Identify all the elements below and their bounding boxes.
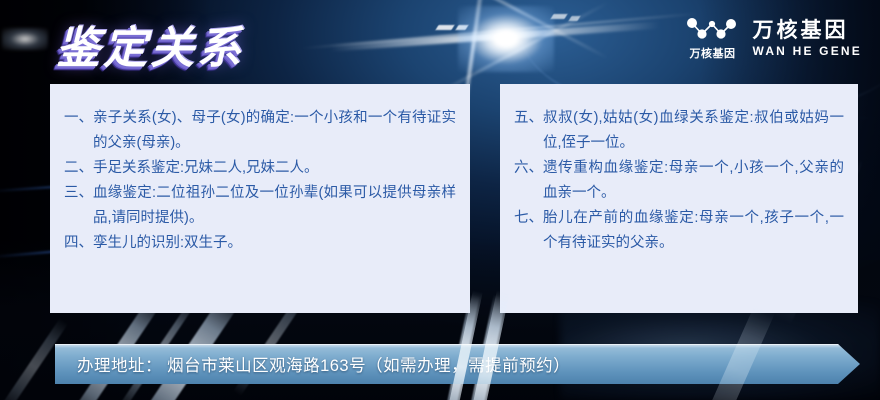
- list-item-number: 一、: [64, 106, 93, 131]
- list-item: 三、 血缘鉴定:二位祖孙二位及一位孙辈(如果可以提供母亲样品,请同时提供)。: [64, 181, 456, 231]
- list-item-text: 孪生儿的识别:双生子。: [93, 231, 456, 256]
- list-item: 七、 胎儿在产前的血缘鉴定:母亲一个,孩子一个,一个有待证实的父亲。: [514, 206, 844, 256]
- list-item: 二、 手足关系鉴定:兄妹二人,兄妹二人。: [64, 156, 456, 181]
- list-item-number: 六、: [514, 156, 543, 181]
- lens-flare-core: [458, 6, 554, 72]
- list-item-text: 遗传重构血缘鉴定:母亲一个,小孩一个,父亲的血亲一个。: [543, 156, 844, 206]
- list-item-text: 亲子关系(女)、母子(女)的确定:一个小孩和一个有待证实的父亲(母亲)。: [93, 106, 456, 156]
- content-panel-right: 五、 叔叔(女),姑姑(女)血绿关系鉴定:叔伯或姑妈一位,侄子一位。 六、 遗传…: [500, 84, 858, 313]
- list-item-number: 三、: [64, 181, 93, 206]
- page-title: 鉴定关系: [56, 12, 244, 76]
- list-item-text: 胎儿在产前的血缘鉴定:母亲一个,孩子一个,一个有待证实的父亲。: [543, 206, 844, 256]
- lens-flare-chip: [435, 25, 454, 30]
- list-item: 四、 孪生儿的识别:双生子。: [64, 231, 456, 256]
- list-item-text: 手足关系鉴定:兄妹二人,兄妹二人。: [93, 156, 456, 181]
- list-item-number: 二、: [64, 156, 93, 181]
- brand-name-en: WAN HE GENE: [752, 45, 862, 57]
- list-item: 六、 遗传重构血缘鉴定:母亲一个,小孩一个,父亲的血亲一个。: [514, 156, 844, 206]
- content-panel-left: 一、 亲子关系(女)、母子(女)的确定:一个小孩和一个有待证实的父亲(母亲)。 …: [50, 84, 470, 313]
- list-item-number: 七、: [514, 206, 543, 231]
- brand-logo: 万核基因 万核基因 WAN HE GENE: [686, 16, 862, 60]
- brand-wordmark: 万核基因 WAN HE GENE: [752, 20, 862, 57]
- brand-name-cn: 万核基因: [752, 20, 862, 41]
- slide-canvas: 鉴定关系 万核基因 万核基因 WAN HE GENE: [0, 0, 880, 400]
- list-item-number: 五、: [514, 106, 543, 131]
- list-item: 五、 叔叔(女),姑姑(女)血绿关系鉴定:叔伯或姑妈一位,侄子一位。: [514, 106, 844, 156]
- logo-mark: 万核基因: [686, 16, 738, 60]
- molecule-icon: [686, 16, 738, 46]
- list-item-text: 血缘鉴定:二位祖孙二位及一位孙辈(如果可以提供母亲样品,请同时提供)。: [93, 181, 456, 231]
- address-text: 办理地址： 烟台市莱山区观海路163号（如需办理，需提前预约）: [77, 344, 570, 384]
- list-item: 一、 亲子关系(女)、母子(女)的确定:一个小孩和一个有待证实的父亲(母亲)。: [64, 106, 456, 156]
- logo-mark-text: 万核基因: [689, 49, 735, 60]
- list-item-number: 四、: [64, 231, 93, 256]
- address-banner: 办理地址： 烟台市莱山区观海路163号（如需办理，需提前预约）: [55, 344, 860, 384]
- lens-flare-secondary: [2, 28, 48, 50]
- list-item-text: 叔叔(女),姑姑(女)血绿关系鉴定:叔伯或姑妈一位,侄子一位。: [543, 106, 844, 156]
